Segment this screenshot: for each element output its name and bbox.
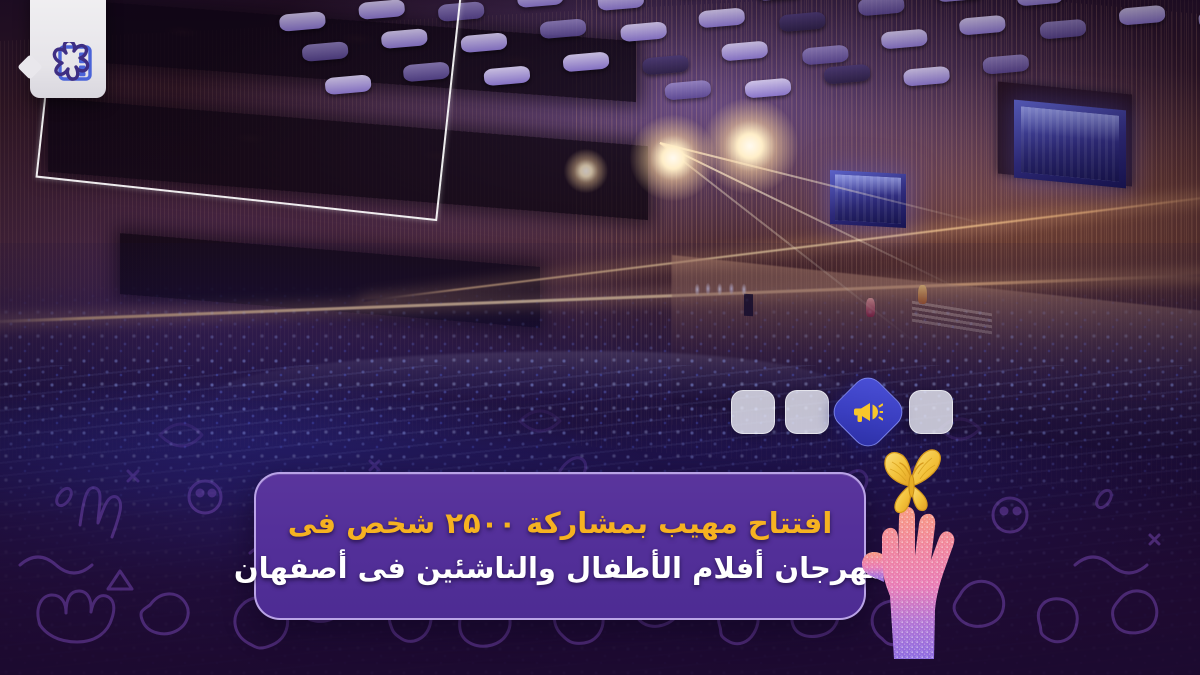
placeholder-tile-4[interactable] [731,390,775,434]
caption-card: افتتاح مهيب بمشاركة ۲۵۰۰ شخص فى مهرجان أ… [254,472,866,620]
glitter-hand-graphic [846,446,966,661]
festival-logo-badge[interactable] [30,0,106,98]
caption-line-2: مهرجان أفلام الأطفال والناشئين فى أصفهان [234,549,886,588]
icon-tile-row [731,390,953,434]
isfahan-film-festival-logo [42,42,94,84]
golden-butterfly-icon [885,450,940,512]
megaphone-icon [853,400,883,424]
placeholder-tile-3[interactable] [785,390,829,434]
placeholder-tile-1[interactable] [909,390,953,434]
caption-line-1: افتتاح مهيب بمشاركة ۲۵۰۰ شخص فى [288,504,833,543]
screenshot-root: افتتاح مهيب بمشاركة ۲۵۰۰ شخص فى مهرجان أ… [0,0,1200,675]
